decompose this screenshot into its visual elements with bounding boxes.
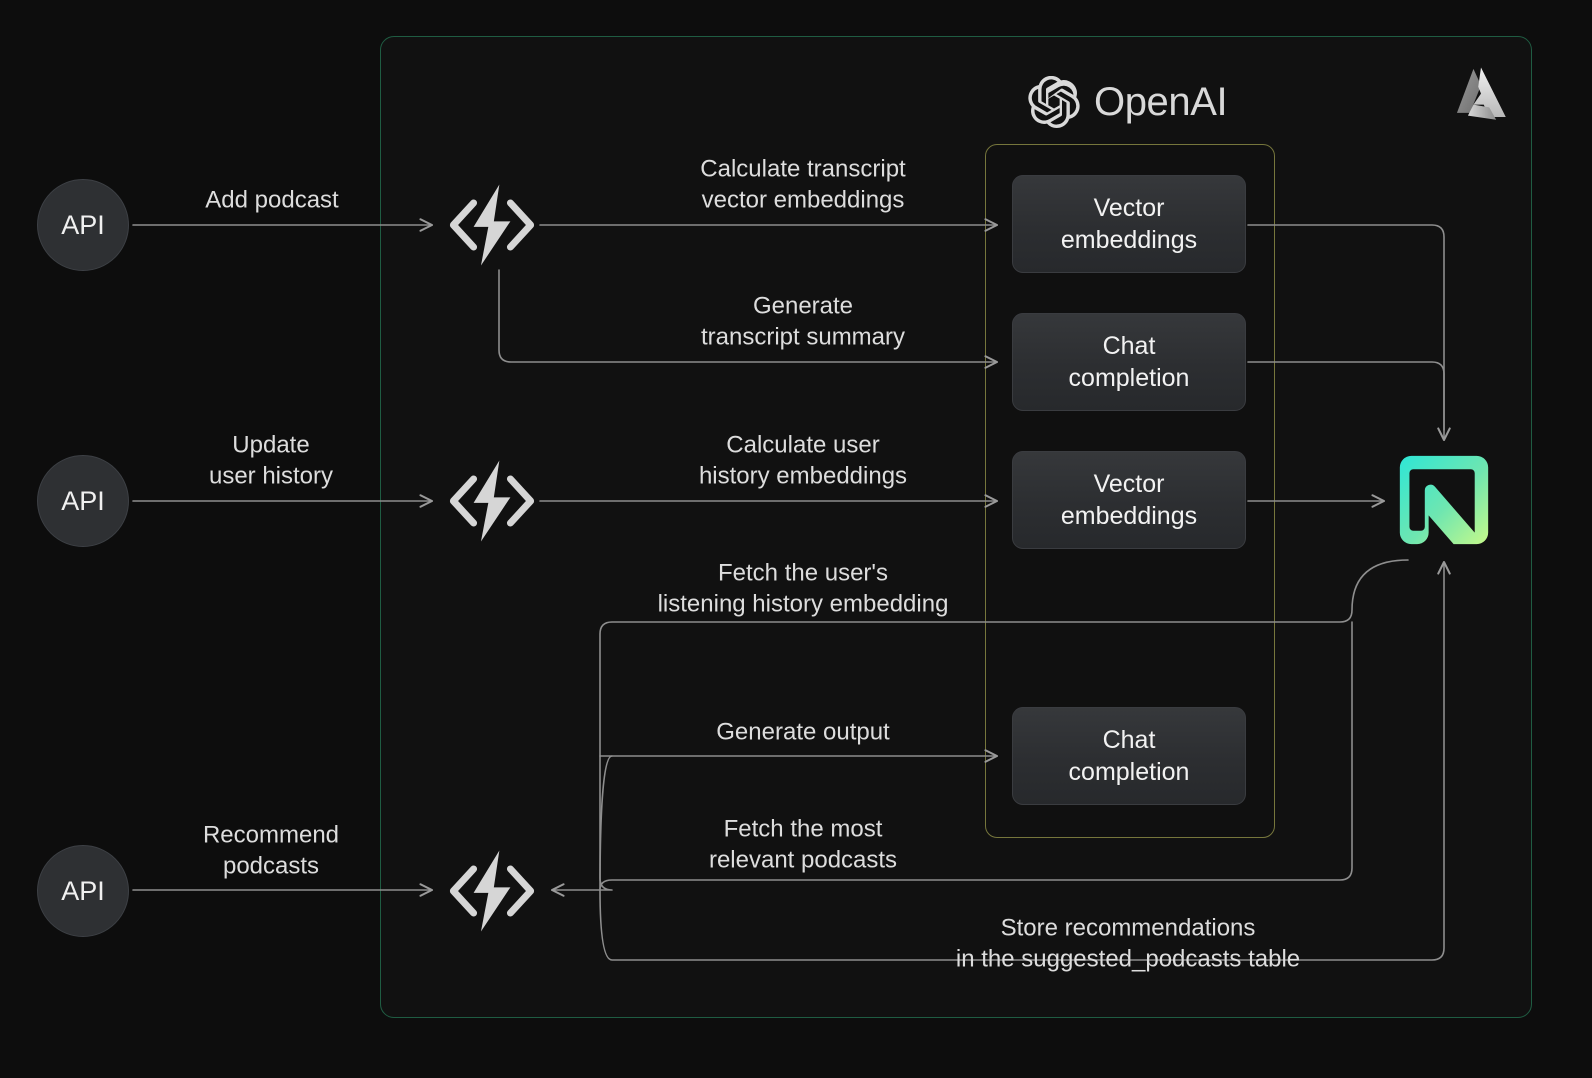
service-box-line-2: embeddings [1061, 500, 1197, 532]
edge-label-update-user-history: Update user history [209, 431, 333, 492]
edge-label-fetch-user-listening-history-embedding: Fetch the user's listening history embed… [658, 559, 949, 620]
service-box-vector-embeddings: Vector embeddings [1012, 175, 1246, 273]
edge-label-add-podcast: Add podcast [205, 185, 338, 216]
azure-logo-icon [1448, 58, 1514, 132]
azure-function-icon [446, 179, 538, 271]
service-box-line-1: Chat [1103, 724, 1156, 756]
edge-label-fetch-most-relevant-podcasts: Fetch the most relevant podcasts [709, 815, 897, 876]
edge-label-recommend-podcasts: Recommend podcasts [203, 821, 339, 882]
edge-label-store-recommendations: Store recommendations in the suggested_p… [956, 914, 1300, 975]
api-node-recommend-podcasts: API [37, 845, 129, 937]
api-node-label: API [61, 486, 105, 517]
openai-logo-icon [1028, 76, 1080, 128]
api-node-label: API [61, 876, 105, 907]
api-node-update-user-history: API [37, 455, 129, 547]
azure-function-icon [446, 845, 538, 937]
openai-wordmark: OpenAI [1094, 80, 1227, 125]
edge-label-generate-transcript-summary: Generate transcript summary [701, 292, 905, 353]
edge-label-calculate-user-history-embeddings: Calculate user history embeddings [699, 431, 907, 492]
edge-label-calculate-transcript-vector-embeddings: Calculate transcript vector embeddings [700, 155, 905, 216]
azure-function-icon [446, 455, 538, 547]
service-box-line-2: completion [1069, 362, 1190, 394]
service-box-chat-completion: Chat completion [1012, 313, 1246, 411]
edge-label-generate-output: Generate output [716, 717, 889, 748]
service-box-line-2: embeddings [1061, 224, 1197, 256]
architecture-diagram: OpenAI API API API [0, 0, 1592, 1078]
azure-boundary-container [380, 36, 1532, 1018]
neon-logo-icon [1396, 452, 1492, 548]
service-box-line-2: completion [1069, 756, 1190, 788]
api-node-label: API [61, 210, 105, 241]
openai-brand: OpenAI [1028, 74, 1227, 130]
api-node-add-podcast: API [37, 179, 129, 271]
service-box-line-1: Chat [1103, 330, 1156, 362]
service-box-vector-embeddings-2: Vector embeddings [1012, 451, 1246, 549]
service-box-line-1: Vector [1094, 468, 1165, 500]
service-box-chat-completion-2: Chat completion [1012, 707, 1246, 805]
service-box-line-1: Vector [1094, 192, 1165, 224]
